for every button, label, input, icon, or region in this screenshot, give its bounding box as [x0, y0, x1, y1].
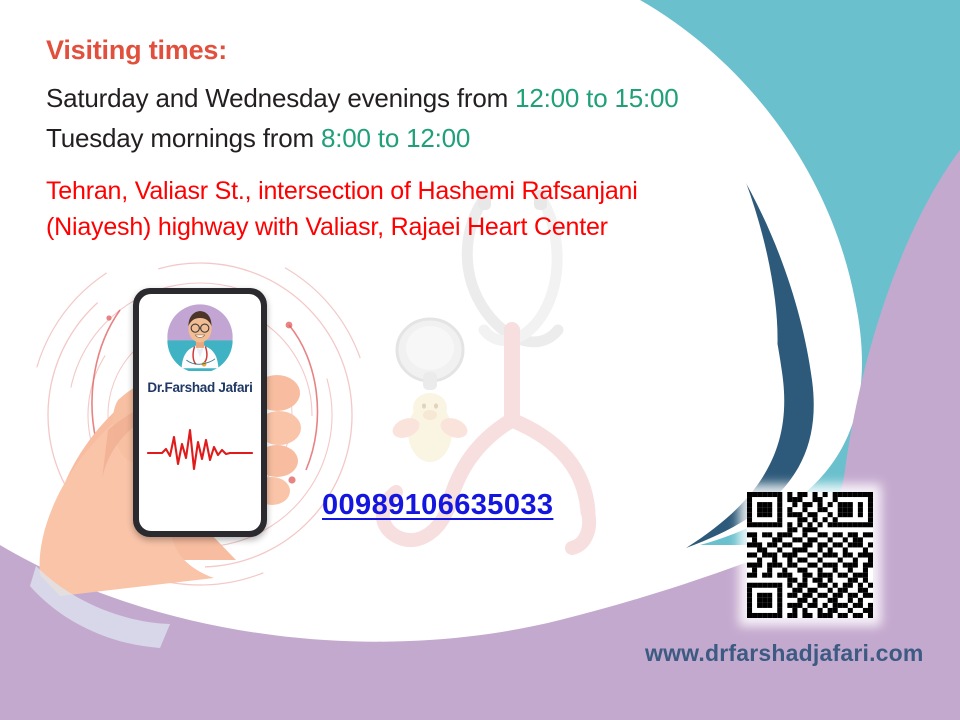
visiting-times-heading: Visiting times: — [46, 36, 806, 66]
hours-prefix-1: Saturday and Wednesday evenings from — [46, 83, 515, 113]
doctor-logo-badge — [166, 303, 234, 371]
phone-mockup: Dr.Farshad Jafari — [133, 288, 267, 537]
address-line-2: (Niayesh) highway with Valiasr, Rajaei H… — [46, 210, 806, 246]
hours-time-2: 8:00 to 12:00 — [321, 123, 470, 153]
ecg-heartbeat-icon — [147, 427, 253, 473]
hours-line-2: Tuesday mornings from 8:00 to 12:00 — [46, 118, 806, 158]
doctor-name-label: Dr.Farshad Jafari — [139, 380, 261, 395]
phone-screen: Dr.Farshad Jafari — [139, 294, 261, 531]
clinic-address: Tehran, Valiasr St., intersection of Has… — [46, 174, 806, 245]
hours-line-1: Saturday and Wednesday evenings from 12:… — [46, 78, 806, 118]
website-url[interactable]: www.drfarshadjafari.com — [645, 640, 924, 667]
qr-code[interactable] — [747, 492, 873, 618]
poster-canvas: Dr.Farshad Jafari Visiting times: Saturd… — [0, 0, 960, 720]
address-line-1: Tehran, Valiasr St., intersection of Has… — [46, 174, 806, 210]
info-text-block: Visiting times: Saturday and Wednesday e… — [46, 36, 806, 245]
hours-time-1: 12:00 to 15:00 — [515, 83, 678, 113]
phone-number-link[interactable]: 00989106635033 — [322, 489, 553, 522]
hours-prefix-2: Tuesday mornings from — [46, 123, 321, 153]
angel-figure — [390, 393, 471, 462]
